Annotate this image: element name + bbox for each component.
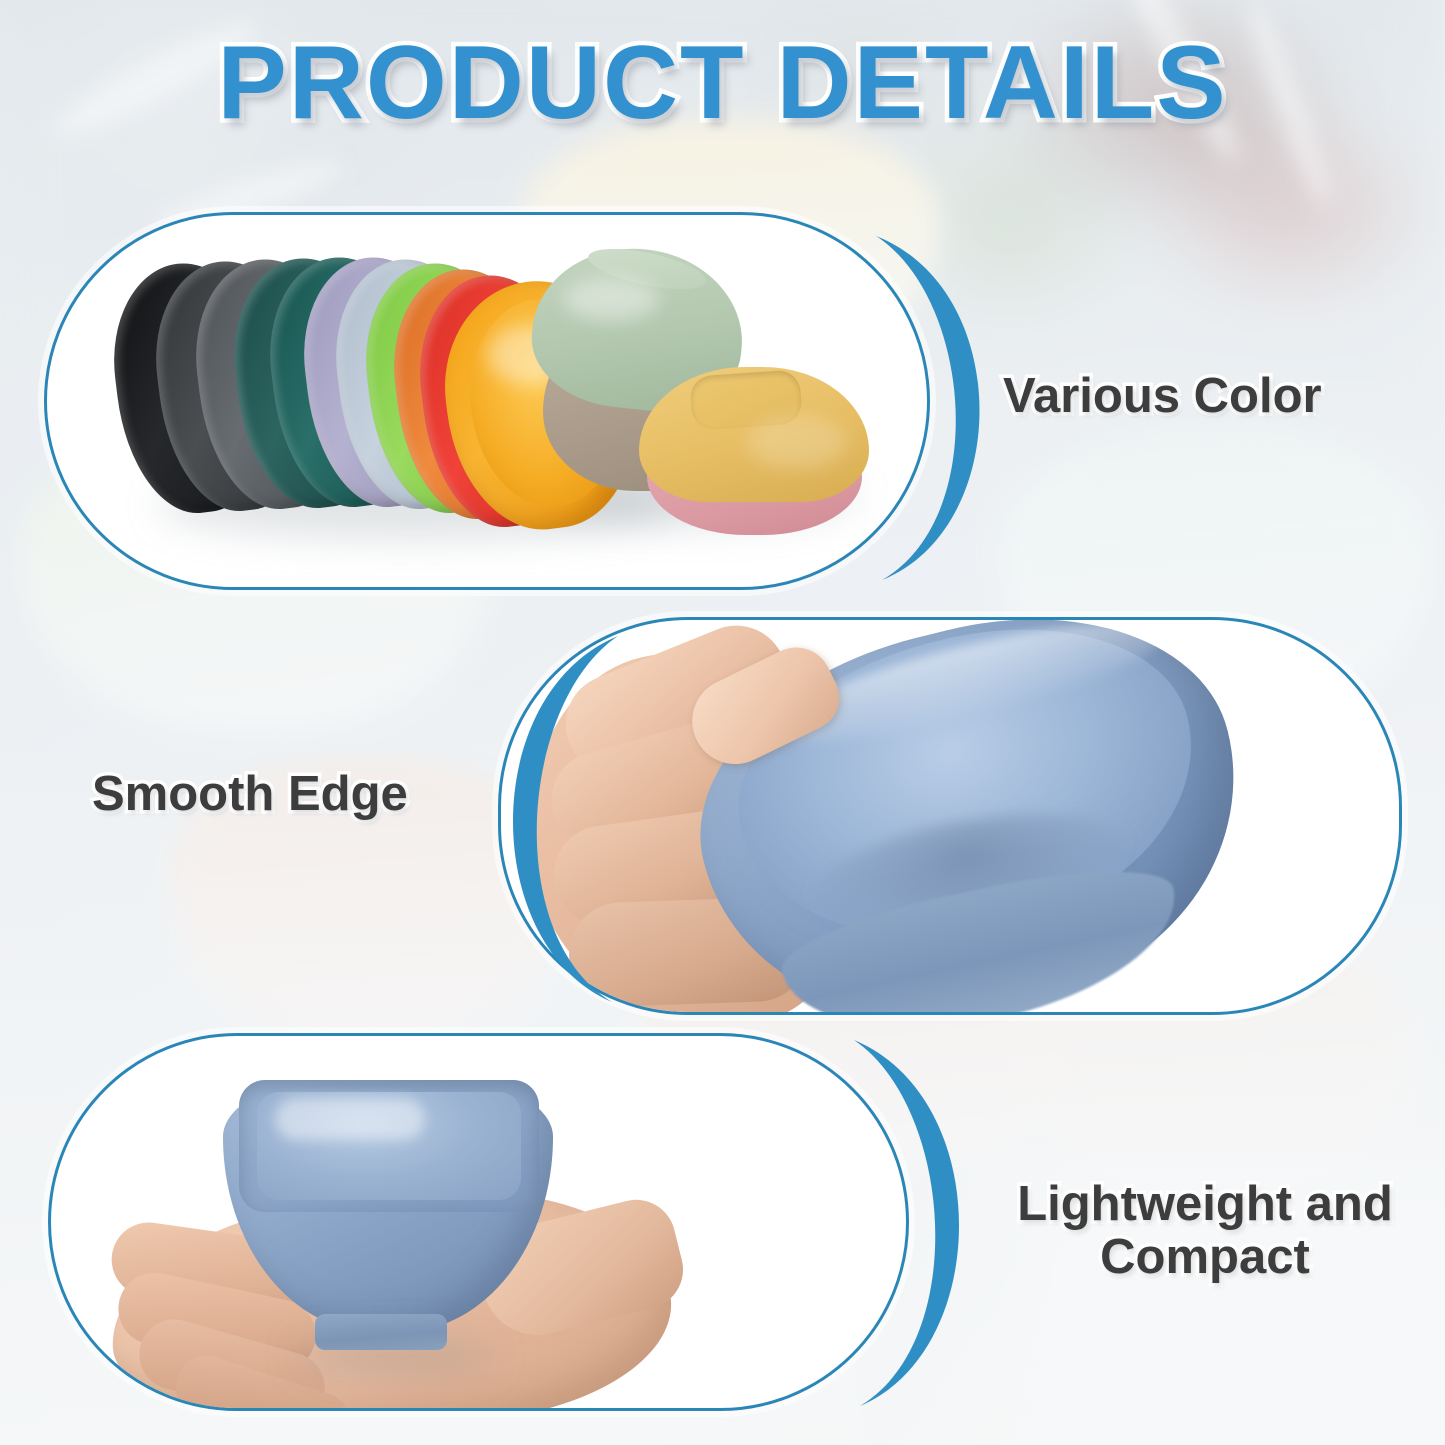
infographic-canvas: PRODUCT DETAILS	[0, 0, 1445, 1445]
smooth-edge-illustration	[501, 620, 1399, 1012]
panel-lightweight-compact	[48, 1033, 909, 1411]
lightweight-compact-illustration	[51, 1036, 906, 1408]
panel-various-color	[44, 212, 930, 590]
blue-bowl-highlight	[275, 1098, 425, 1140]
bowl-shadow	[295, 1336, 495, 1376]
bowl-yellow-highlight	[747, 415, 847, 469]
label-smooth-edge: Smooth Edge	[92, 768, 408, 821]
bowl-sage-highlight	[563, 277, 659, 321]
page-title: PRODUCT DETAILS	[0, 24, 1445, 143]
label-various-color: Various Color	[1003, 370, 1322, 423]
panel-smooth-edge	[498, 617, 1402, 1015]
various-color-illustration	[47, 215, 927, 587]
label-line-2: Compact	[995, 1231, 1415, 1284]
label-line-1: Lightweight and	[995, 1178, 1415, 1231]
label-lightweight-compact: Lightweight and Compact	[995, 1178, 1415, 1284]
